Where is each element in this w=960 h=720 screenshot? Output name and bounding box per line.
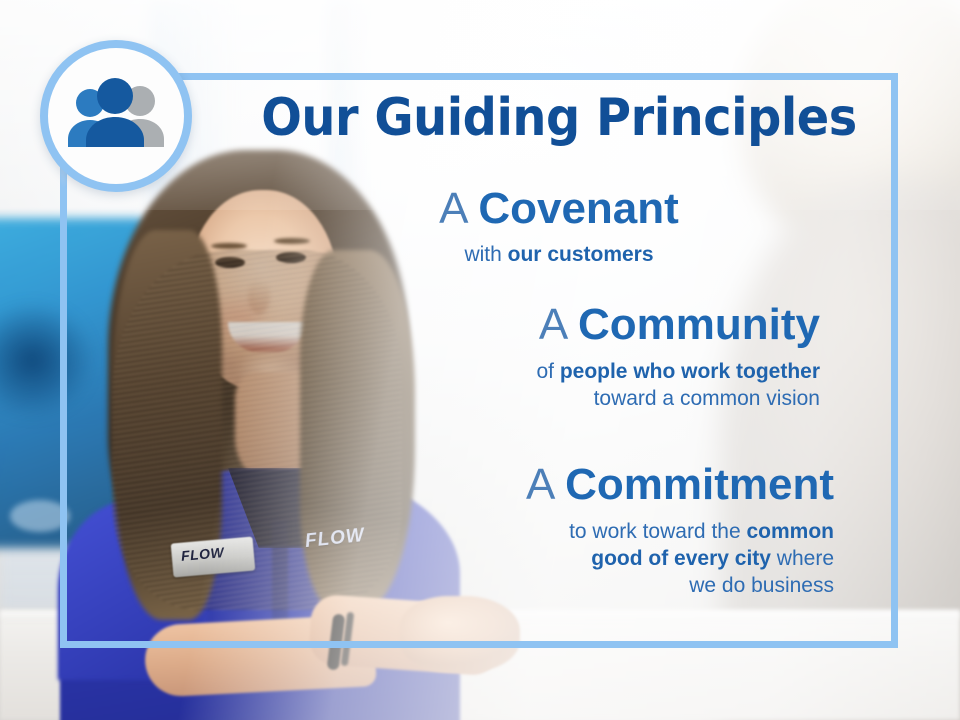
plain-text: where: [771, 547, 834, 570]
emphasis-text: common: [746, 520, 834, 543]
principle-covenant: A Covenant with our customers: [214, 186, 904, 268]
principle-subtext-line: to work toward the common: [150, 518, 834, 545]
plain-text: with: [464, 243, 507, 266]
associate-hands: [400, 596, 520, 672]
principle-article: A: [539, 300, 566, 349]
principle-subtext-line: with our customers: [214, 241, 904, 268]
principle-keyword: Covenant: [478, 184, 678, 233]
principle-article: A: [439, 184, 466, 233]
plain-text: to work toward the: [569, 520, 746, 543]
people-badge: [40, 40, 192, 192]
principle-heading: A Covenant: [214, 186, 904, 232]
emphasis-text: good of every city: [591, 547, 771, 570]
principle-subtext: with our customers: [214, 241, 904, 268]
emphasis-text: our customers: [508, 243, 654, 266]
principle-subtext: to work toward the commongood of every c…: [150, 518, 834, 600]
page-title: Our Guiding Principles: [242, 92, 877, 144]
plain-text: of: [536, 360, 559, 383]
people-group-icon: [62, 77, 170, 155]
principle-commitment: A Commitment to work toward the commongo…: [150, 462, 900, 600]
principle-keyword: Commitment: [565, 460, 834, 509]
plain-text: toward a common vision: [594, 387, 820, 410]
principle-subtext-line: of people who work together: [150, 358, 820, 385]
principle-heading: A Community: [150, 302, 820, 348]
emphasis-text: people who work together: [560, 360, 820, 383]
principle-subtext-line: we do business: [150, 572, 834, 599]
principle-subtext: of people who work togethertoward a comm…: [150, 358, 820, 413]
principle-keyword: Community: [578, 300, 820, 349]
principle-heading: A Commitment: [150, 462, 834, 508]
principle-community: A Community of people who work togethert…: [150, 302, 900, 412]
plain-text: we do business: [689, 574, 834, 597]
guiding-principles-graphic: FLOW FLOW Our Guiding Prin: [0, 0, 960, 720]
principle-subtext-line: good of every city where: [150, 545, 834, 572]
principle-subtext-line: toward a common vision: [150, 385, 820, 412]
display-logo-shape: [10, 500, 70, 532]
display-vehicle-shape: [0, 300, 122, 420]
principle-article: A: [526, 460, 553, 509]
